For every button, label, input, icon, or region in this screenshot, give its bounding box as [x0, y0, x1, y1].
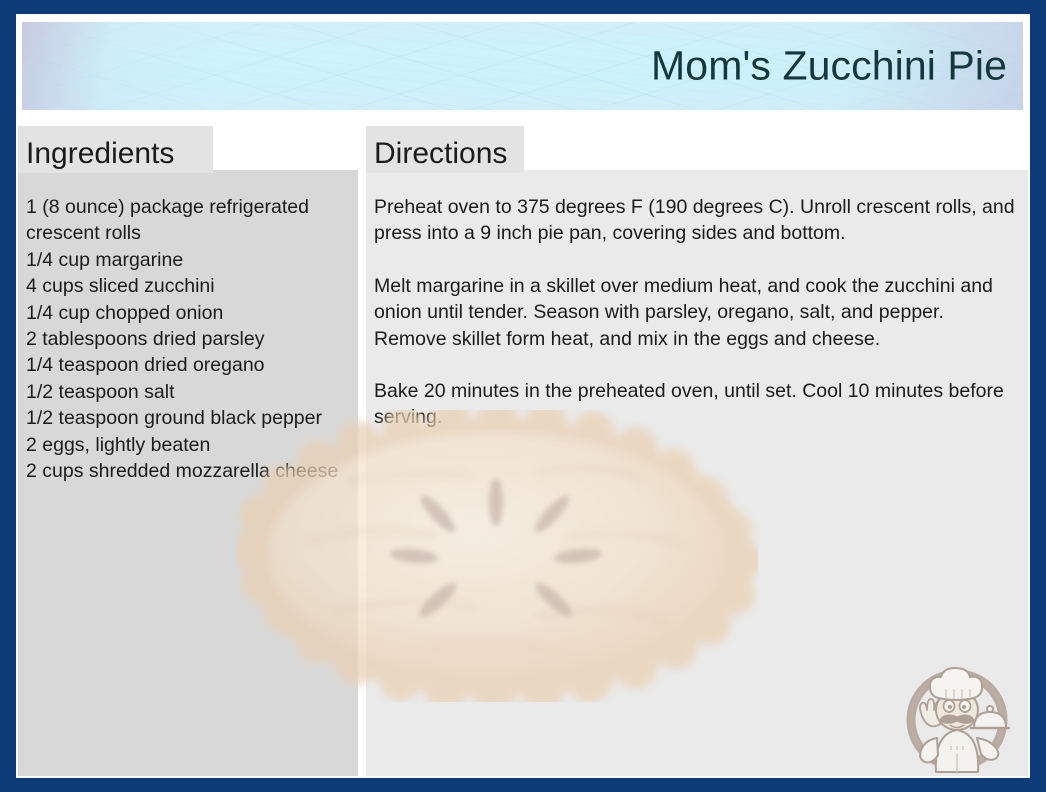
ingredients-text-block: 1 (8 ounce) package refrigerated crescen…	[26, 194, 348, 484]
direction-step: Melt margarine in a skillet over medium …	[374, 273, 1018, 352]
recipe-page-surface: Mom's Zucchini Pie Ingredients 1 (8 ounc…	[16, 14, 1030, 778]
directions-section-heading: Directions	[366, 126, 524, 173]
ingredients-section-heading: Ingredients	[18, 126, 213, 173]
recipe-card: Mom's Zucchini Pie Ingredients 1 (8 ounc…	[0, 0, 1046, 792]
ingredient-item: 4 cups sliced zucchini	[26, 273, 348, 299]
directions-text-block: Preheat oven to 375 degrees F (190 degre…	[374, 194, 1018, 431]
ingredients-panel: 1 (8 ounce) package refrigerated crescen…	[18, 170, 358, 776]
page-title: Mom's Zucchini Pie	[651, 43, 1007, 88]
ingredient-item: 2 tablespoons dried parsley	[26, 326, 348, 352]
ingredient-item: 1/4 teaspoon dried oregano	[26, 352, 348, 378]
ingredient-item: 1/4 cup chopped onion	[26, 300, 348, 326]
ingredient-item: 1/2 teaspoon ground black pepper	[26, 405, 348, 431]
ingredient-item: 1 (8 ounce) package refrigerated crescen…	[26, 194, 348, 247]
ingredient-item: 2 eggs, lightly beaten	[26, 432, 348, 458]
ingredient-item: 1/4 cup margarine	[26, 247, 348, 273]
ingredients-heading-label: Ingredients	[26, 137, 174, 171]
ingredient-item: 1/2 teaspoon salt	[26, 379, 348, 405]
directions-heading-label: Directions	[374, 137, 507, 171]
direction-step: Preheat oven to 375 degrees F (190 degre…	[374, 194, 1018, 247]
directions-steps: Preheat oven to 375 degrees F (190 degre…	[374, 194, 1018, 431]
header-banner: Mom's Zucchini Pie	[22, 22, 1023, 110]
directions-panel: Preheat oven to 375 degrees F (190 degre…	[366, 170, 1028, 776]
ingredient-item: 2 cups shredded mozzarella cheese	[26, 458, 348, 484]
ingredients-list: 1 (8 ounce) package refrigerated crescen…	[26, 194, 348, 484]
direction-step: Bake 20 minutes in the preheated oven, u…	[374, 378, 1018, 431]
